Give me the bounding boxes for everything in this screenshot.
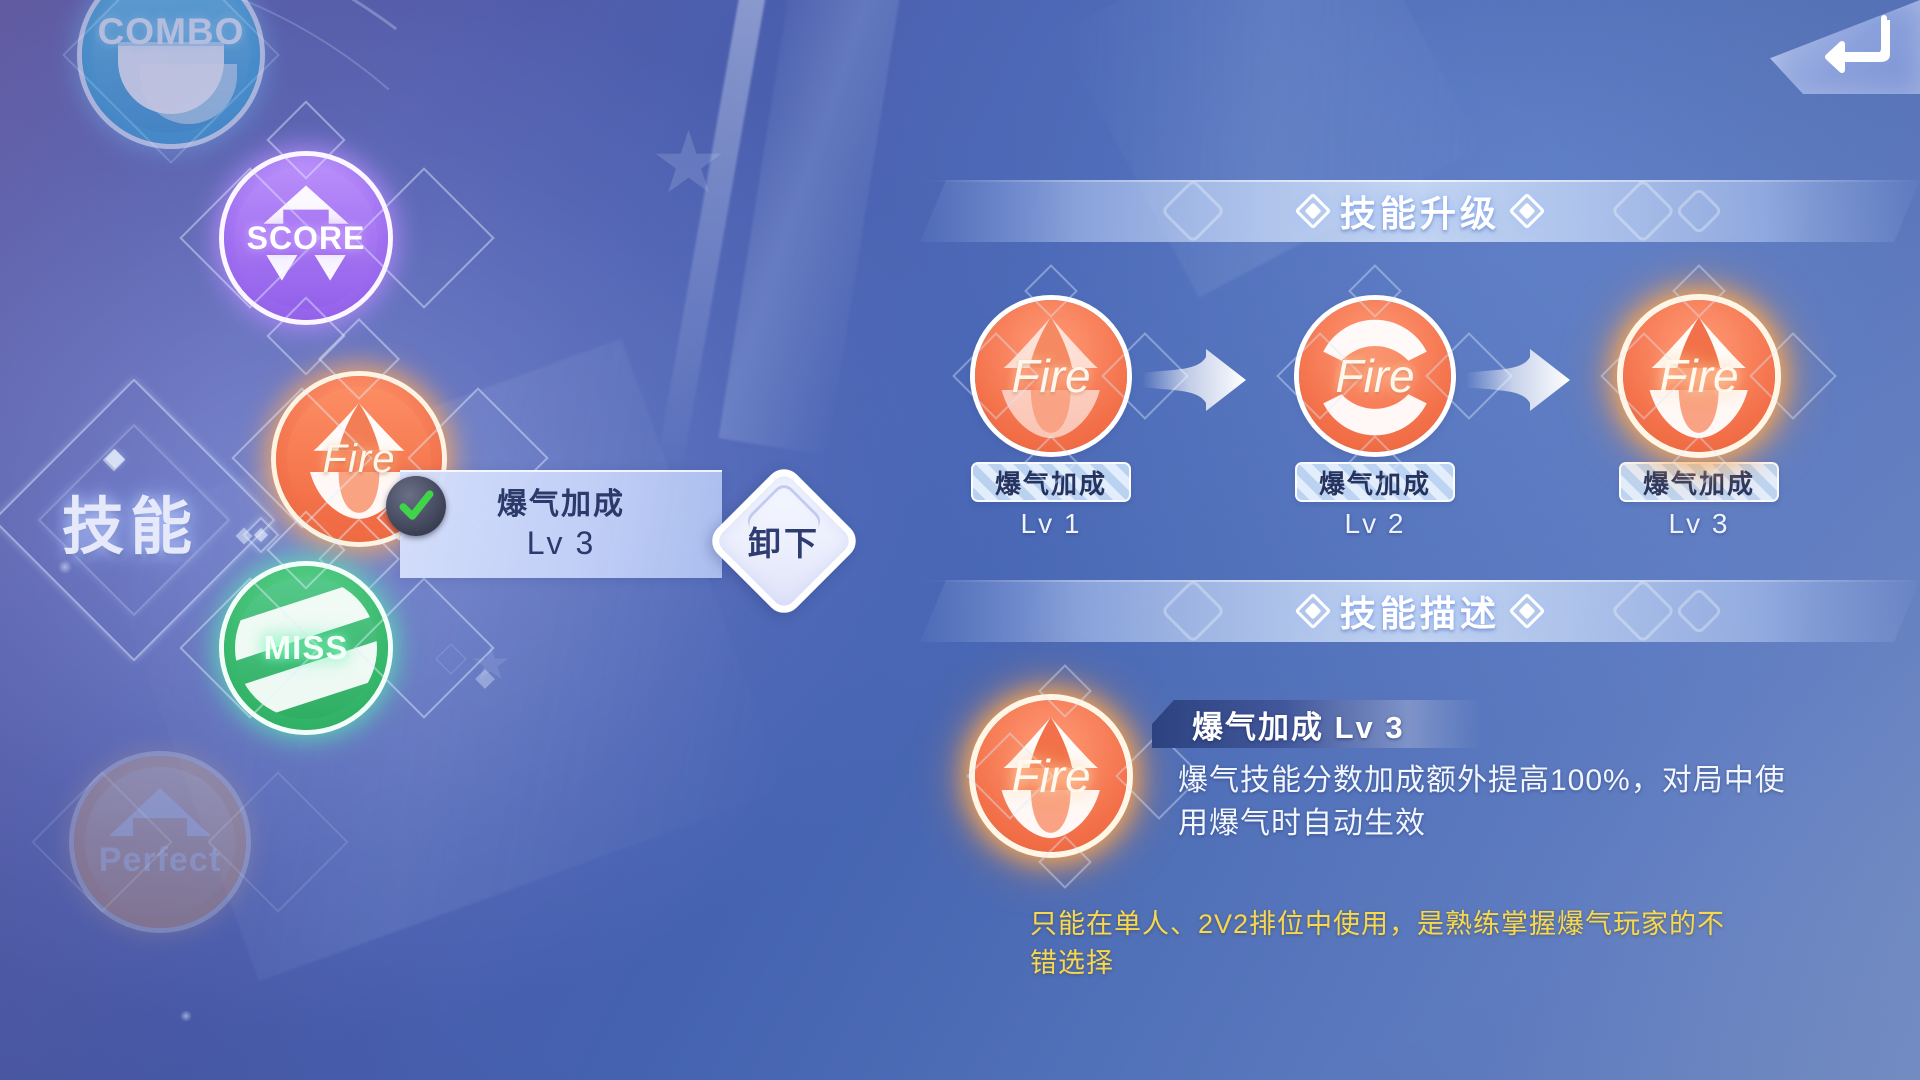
equipped-skill-panel: 爆气加成 Lv 3 xyxy=(400,470,722,578)
upgrade-node-icon: Fire xyxy=(1299,300,1451,452)
skill-description-header: 技能描述 xyxy=(920,580,1920,642)
upgrade-node-icon: Fire xyxy=(1623,300,1775,452)
header-title-group: 技能升级 xyxy=(1300,185,1540,237)
back-button[interactable] xyxy=(1770,0,1920,94)
upgrade-node-lv1[interactable]: Fire 爆气加成 Lv 1 xyxy=(961,300,1141,540)
diamond-icon xyxy=(1509,593,1546,630)
upgrade-node-level: Lv 2 xyxy=(1285,508,1465,540)
upgrade-node-name: 爆气加成 xyxy=(1295,462,1455,502)
skill-badge-label: SCORE xyxy=(247,220,366,257)
upgrade-node-icon-label: Fire xyxy=(975,300,1127,452)
skill-badge-label: Perfect xyxy=(99,841,221,880)
upgrade-node-icon: Fire xyxy=(975,300,1127,452)
right-arrow-icon xyxy=(1464,345,1572,415)
header-topline xyxy=(920,580,1920,582)
skill-upgrade-header: 技能升级 xyxy=(920,180,1920,242)
upgrade-node-name: 爆气加成 xyxy=(971,462,1131,502)
game-screen: ★ ★ 技能 COMBO xyxy=(0,0,1920,1080)
equipped-skill-level: Lv 3 xyxy=(527,525,595,562)
description-icon-circle: Fire xyxy=(975,700,1127,852)
equipped-skill-name: 爆气加成 xyxy=(497,488,625,521)
header-topline xyxy=(920,180,1920,182)
skill-badge-score[interactable]: SCORE xyxy=(224,156,388,320)
page-title: 技能 xyxy=(4,472,256,570)
skill-badge-label: Fire xyxy=(323,437,396,482)
upgrade-node-level: Lv 3 xyxy=(1609,508,1789,540)
equipped-check-badge xyxy=(386,476,446,536)
description-note-text: 只能在单人、2V2排位中使用，是熟练掌握爆气玩家的不错选择 xyxy=(1030,905,1750,983)
skill-badge-miss[interactable]: MISS xyxy=(224,566,388,730)
upgrade-node-lv2[interactable]: Fire 爆气加成 Lv 2 xyxy=(1285,300,1465,540)
checkmark-icon xyxy=(394,484,438,528)
skill-badge-fire[interactable]: Fire xyxy=(276,376,442,542)
diamond-icon xyxy=(1509,193,1546,230)
description-skill-icon: Fire xyxy=(975,700,1127,852)
skill-badge-perfect[interactable]: Perfect xyxy=(74,756,246,928)
skill-description-title: 技能描述 xyxy=(1340,585,1500,637)
diamond-icon xyxy=(1295,193,1332,230)
description-icon-label: Fire xyxy=(975,700,1127,852)
upgrade-node-icon-label: Fire xyxy=(1299,300,1451,452)
description-skill-title: 爆气加成 Lv 3 xyxy=(1152,700,1482,748)
header-title-group: 技能描述 xyxy=(1300,585,1540,637)
upgrade-node-name: 爆气加成 xyxy=(1619,462,1779,502)
unequip-button-label: 卸下 xyxy=(705,462,863,620)
skill-badge-label: COMBO xyxy=(98,11,245,53)
skill-upgrade-title: 技能升级 xyxy=(1340,185,1500,237)
description-body-text: 爆气技能分数加成额外提高100%，对局中使用爆气时自动生效 xyxy=(1178,760,1798,845)
unequip-button[interactable]: 卸下 xyxy=(705,462,863,620)
right-arrow-icon xyxy=(1140,345,1248,415)
diamond-icon xyxy=(1295,593,1332,630)
upgrade-node-lv3[interactable]: Fire 爆气加成 Lv 3 xyxy=(1609,300,1789,540)
skill-badge-label: MISS xyxy=(264,629,349,667)
upgrade-node-level: Lv 1 xyxy=(961,508,1141,540)
upgrade-node-icon-label: Fire xyxy=(1623,300,1775,452)
back-arrow-icon xyxy=(1822,14,1896,76)
